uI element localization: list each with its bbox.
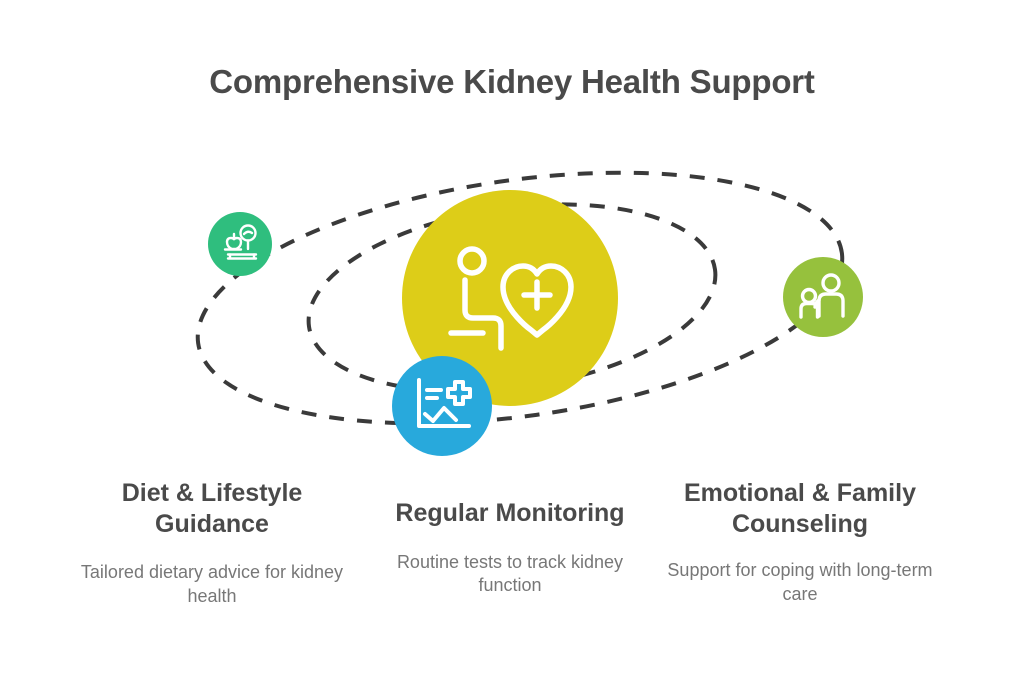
caption-counseling-description: Support for coping with long-term care [665, 559, 935, 607]
caption-counseling-title: Emotional & Family Counseling [665, 478, 935, 539]
caption-monitoring-description: Routine tests to track kidney function [370, 551, 650, 599]
orbit-diagram [0, 150, 1024, 470]
caption-monitoring-title: Regular Monitoring [370, 498, 650, 529]
caption-diet-description: Tailored dietary advice for kidney healt… [62, 561, 362, 609]
monitoring-node[interactable] [392, 356, 492, 456]
chart-medical-cross-icon [411, 376, 473, 436]
counseling-node[interactable] [783, 257, 863, 337]
page-title: Comprehensive Kidney Health Support [0, 62, 1024, 102]
caption-counseling: Emotional & Family Counseling Support fo… [665, 478, 935, 607]
family-people-icon [797, 272, 849, 322]
food-scale-apple-icon [219, 223, 261, 265]
diet-node[interactable] [208, 212, 272, 276]
seated-patient-heart-plus-icon [445, 238, 575, 358]
caption-diet: Diet & Lifestyle Guidance Tailored dieta… [62, 478, 362, 609]
caption-monitoring: Regular Monitoring Routine tests to trac… [370, 498, 650, 598]
caption-diet-title: Diet & Lifestyle Guidance [62, 478, 362, 539]
